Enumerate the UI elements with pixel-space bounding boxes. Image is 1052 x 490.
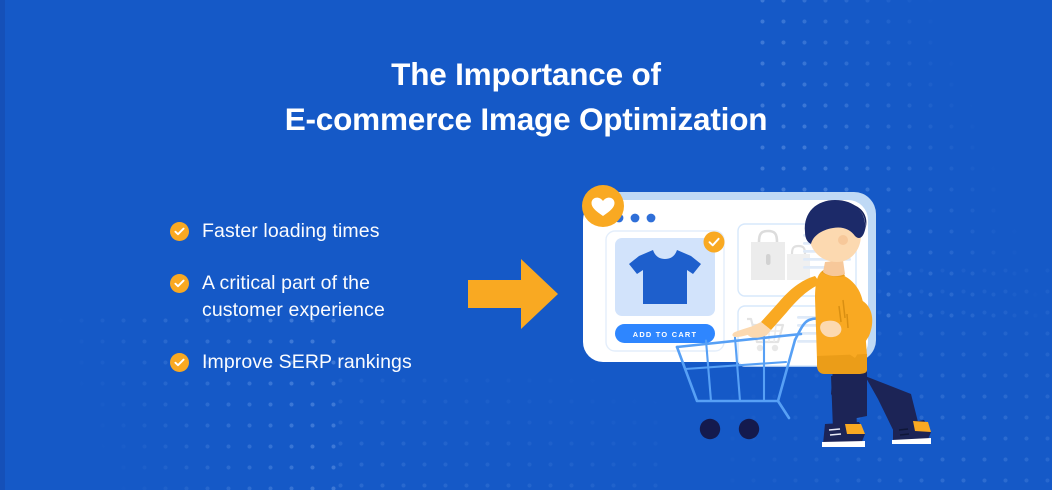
check-circle-icon [170,353,189,372]
list-item-label: Faster loading times [202,218,380,245]
sneaker-front [822,422,865,447]
product-card: ADD TO CART [606,231,725,351]
list-item: A critical part of the customer experien… [170,270,450,324]
add-to-cart-button: ADD TO CART [615,324,715,343]
check-circle-icon [704,232,725,253]
check-circle-icon [170,222,189,241]
check-circle-icon [170,274,189,293]
list-item: Faster loading times [170,218,450,245]
arrow-right-icon [463,254,563,339]
page-title: The Importance of E-commerce Image Optim… [0,52,1052,142]
page-title-line-1: The Importance of [391,56,661,92]
add-to-cart-label: ADD TO CART [633,330,698,339]
heart-icon [582,185,624,227]
benefits-list: Faster loading times A critical part of … [170,218,450,376]
list-item: Improve SERP rankings [170,349,450,376]
slide-canvas: The Importance of E-commerce Image Optim… [0,0,1052,490]
page-title-line-2: E-commerce Image Optimization [0,97,1052,142]
list-item-label: A critical part of the customer experien… [202,270,450,324]
ecommerce-shopping-illustration: ADD TO CART [575,180,935,485]
list-item-label: Improve SERP rankings [202,349,412,376]
cart-wheels [700,419,759,439]
